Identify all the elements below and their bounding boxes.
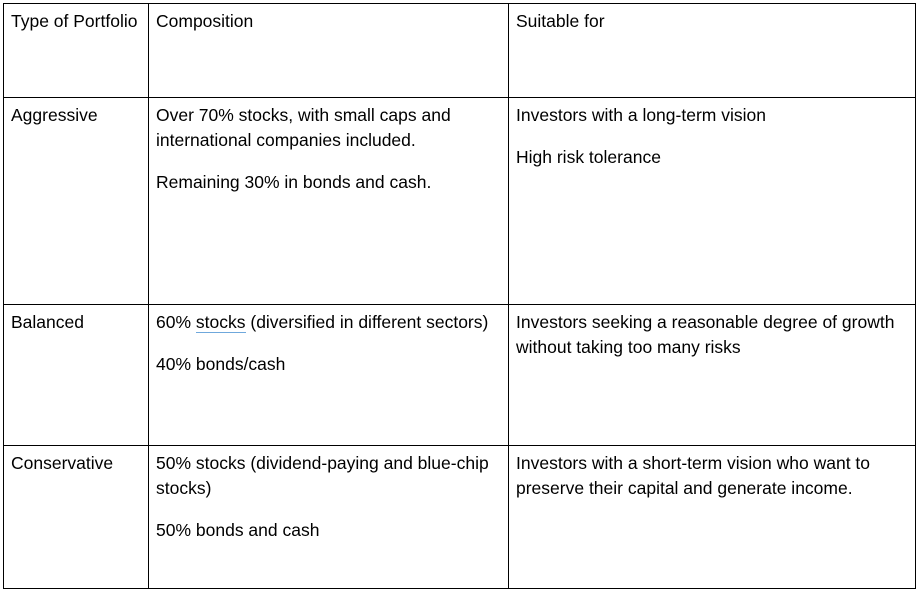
composition-paragraph: 50% bonds and cash	[156, 518, 501, 543]
cell-portfolio-type-conservative: Conservative	[4, 446, 149, 589]
cell-suitable-conservative: Investors with a short-term vision who w…	[509, 446, 916, 589]
cell-composition-conservative: 50% stocks (dividend-paying and blue-chi…	[149, 446, 509, 589]
suitable-paragraph: Investors with a long-term vision	[516, 103, 908, 128]
cell-composition-aggressive: Over 70% stocks, with small caps and int…	[149, 98, 509, 305]
column-header-suitable-for: Suitable for	[509, 4, 916, 98]
table-body: Aggressive Over 70% stocks, with small c…	[4, 98, 916, 589]
column-header-composition: Composition	[149, 4, 509, 98]
table-header: Type of Portfolio Composition Suitable f…	[4, 4, 916, 98]
cell-portfolio-type-aggressive: Aggressive	[4, 98, 149, 305]
composition-paragraph: 40% bonds/cash	[156, 352, 501, 377]
stocks-link[interactable]: stocks	[196, 312, 246, 333]
composition-paragraph: Over 70% stocks, with small caps and int…	[156, 103, 501, 153]
cell-composition-balanced: 60% stocks (diversified in different sec…	[149, 305, 509, 446]
composition-text-suffix: (diversified in different sectors)	[246, 312, 489, 332]
portfolio-comparison-table: Type of Portfolio Composition Suitable f…	[3, 3, 916, 589]
column-header-type-of-portfolio: Type of Portfolio	[4, 4, 149, 98]
suitable-paragraph: Investors with a short-term vision who w…	[516, 451, 908, 501]
table-header-row: Type of Portfolio Composition Suitable f…	[4, 4, 916, 98]
table-row: Balanced 60% stocks (diversified in diff…	[4, 305, 916, 446]
cell-suitable-aggressive: Investors with a long-term vision High r…	[509, 98, 916, 305]
table-row: Conservative 50% stocks (dividend-paying…	[4, 446, 916, 589]
composition-paragraph: 60% stocks (diversified in different sec…	[156, 310, 501, 335]
composition-text-prefix: 60%	[156, 312, 196, 332]
cell-portfolio-type-balanced: Balanced	[4, 305, 149, 446]
cell-suitable-balanced: Investors seeking a reasonable degree of…	[509, 305, 916, 446]
suitable-paragraph: Investors seeking a reasonable degree of…	[516, 310, 908, 360]
composition-paragraph: 50% stocks (dividend-paying and blue-chi…	[156, 451, 501, 501]
document-page: Type of Portfolio Composition Suitable f…	[0, 0, 923, 550]
table-row: Aggressive Over 70% stocks, with small c…	[4, 98, 916, 305]
composition-paragraph: Remaining 30% in bonds and cash.	[156, 170, 501, 195]
suitable-paragraph: High risk tolerance	[516, 145, 908, 170]
